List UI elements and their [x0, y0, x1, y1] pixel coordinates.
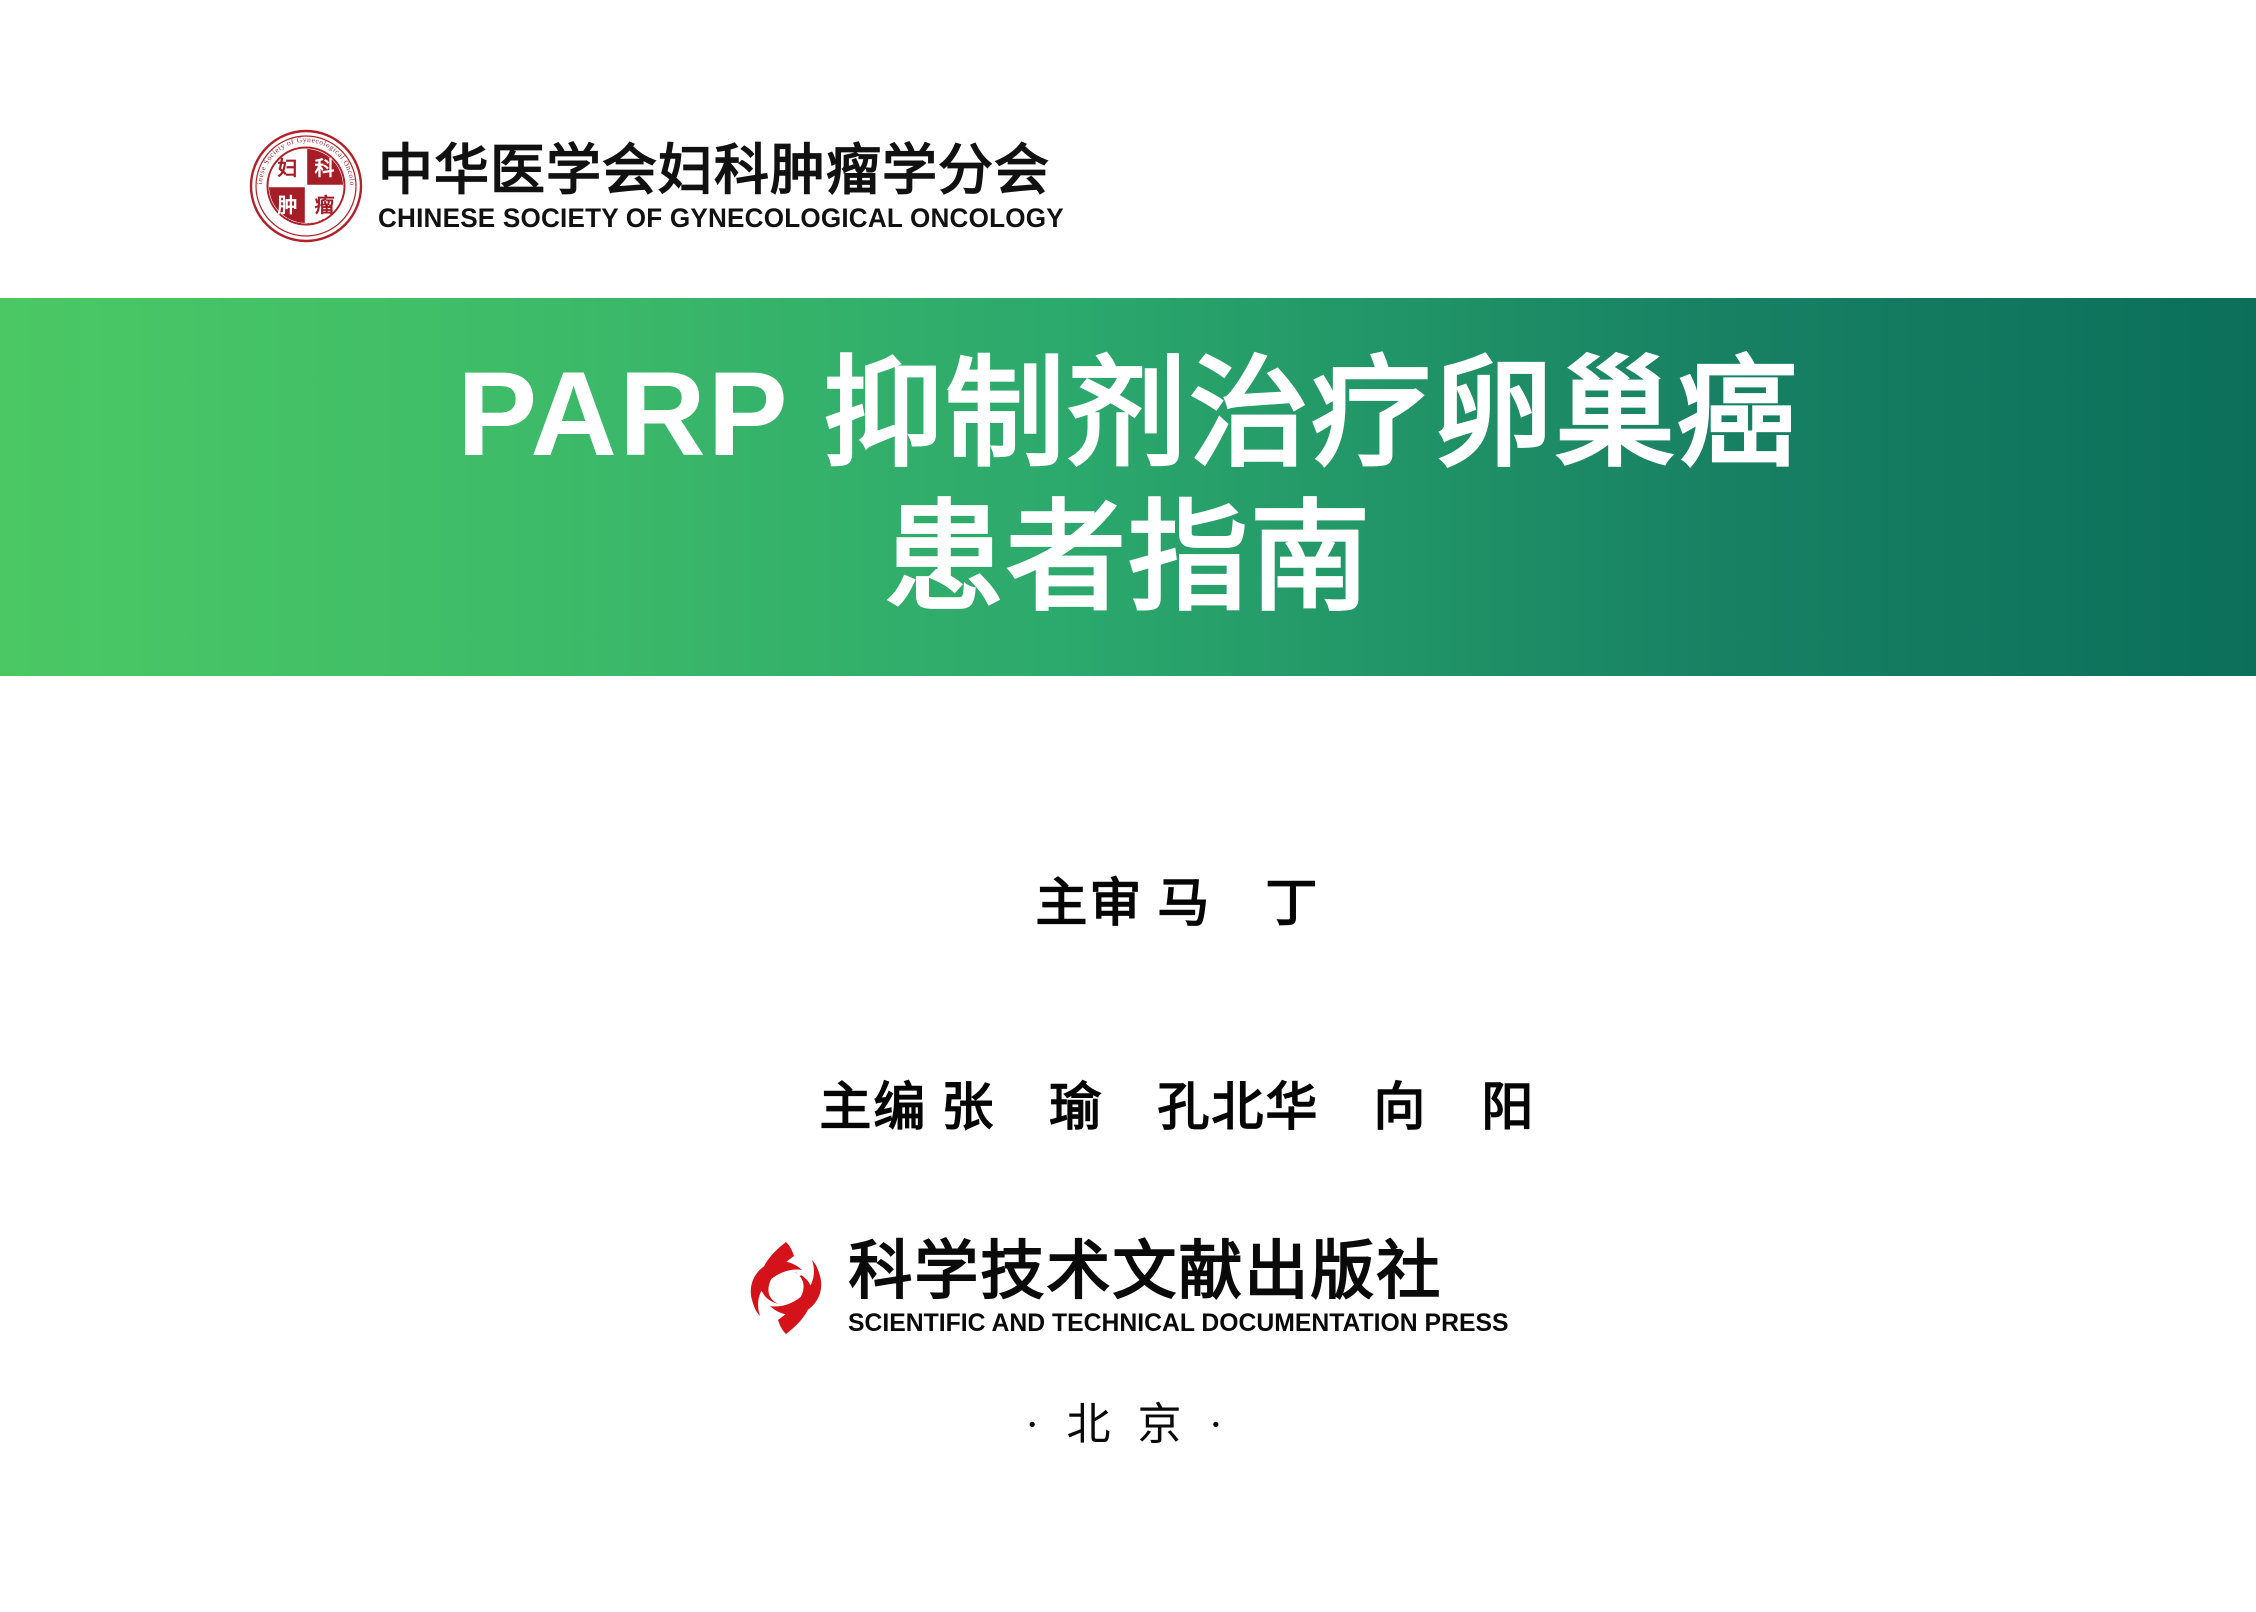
title-banner: PARP 抑制剂治疗卵巢癌 患者指南 — [0, 298, 2256, 676]
book-title-line-1: PARP 抑制剂治疗卵巢癌 — [457, 344, 1799, 486]
svg-text:妇: 妇 — [278, 157, 298, 180]
credit-role-label: 主审 — [1035, 875, 1143, 933]
publisher-name-en: SCIENTIFIC AND TECHNICAL DOCUMENTATION P… — [848, 1309, 1508, 1338]
society-name-cn: 中华医学会妇科肿瘤学分会 — [378, 141, 1074, 200]
publisher-block: 科学技术文献出版社 SCIENTIFIC AND TECHNICAL DOCUM… — [0, 1238, 2256, 1338]
book-title-page: Chinese Society of Gynecological Oncolog… — [0, 0, 2256, 1612]
publisher-name-block: 科学技术文献出版社 SCIENTIFIC AND TECHNICAL DOCUM… — [848, 1238, 1515, 1338]
credits-block: 主审马 丁 主编张 瑜 孔北华 向 阳 — [0, 826, 2256, 1186]
svg-text:瘤: 瘤 — [315, 193, 335, 217]
credit-names: 马 丁 — [1157, 875, 1319, 933]
svg-text:科: 科 — [315, 156, 335, 180]
book-title-line-2: 患者指南 — [884, 488, 1372, 630]
society-name-block: 中华医学会妇科肿瘤学分会 CHINESE SOCIETY OF GYNECOLO… — [378, 137, 1074, 235]
credit-row-chief-editor: 主编张 瑜 孔北华 向 阳 — [721, 1030, 1536, 1186]
credit-row-chief-reviewer: 主审马 丁 — [937, 826, 1320, 982]
publisher-row: 科学技术文献出版社 SCIENTIFIC AND TECHNICAL DOCUM… — [740, 1238, 1515, 1338]
society-name-en: CHINESE SOCIETY OF GYNECOLOGICAL ONCOLOG… — [378, 203, 1064, 235]
svg-text:肿: 肿 — [278, 193, 298, 217]
society-header: Chinese Society of Gynecological Oncolog… — [248, 128, 1074, 244]
csgo-emblem-icon: Chinese Society of Gynecological Oncolog… — [248, 128, 364, 244]
credit-names: 张 瑜 孔北华 向 阳 — [941, 1079, 1535, 1137]
publisher-name-cn: 科学技术文献出版社 — [848, 1238, 1442, 1305]
credit-role-label: 主编 — [819, 1079, 927, 1137]
press-flame-logo-icon — [740, 1238, 832, 1338]
city-line: · 北 京 · — [0, 1388, 2256, 1452]
